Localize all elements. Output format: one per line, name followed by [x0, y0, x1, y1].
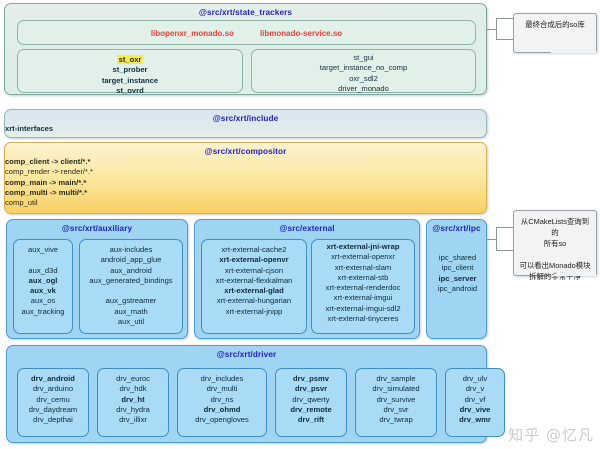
callout-leader-2 — [496, 227, 513, 251]
item-1: drv_multi — [178, 384, 266, 394]
callout-line-3: 可以看出Monado模块 — [518, 260, 592, 271]
section-title-compositor: @src/xrt/compositor — [5, 143, 486, 157]
item-1: target_instance_no_comp — [252, 63, 475, 73]
item-2: drv_ns — [178, 395, 266, 405]
callout-line-4: 拆解的非常干净 — [518, 271, 592, 282]
item-2: comp_main -> main/*.* — [5, 178, 486, 188]
item-4: drv_depthai — [18, 415, 88, 425]
item-4: comp_util — [5, 198, 486, 208]
item-6: aux_math — [80, 307, 182, 317]
section-title-ipc: @src/xrt/ipc — [427, 220, 486, 234]
callout-leader-1 — [496, 18, 513, 40]
item-2: drv_survive — [356, 395, 436, 405]
driver-col2-items: drv_eurocdrv_hdkdrv_htdrv_hydradrv_illix… — [98, 369, 168, 425]
driver-col5-items: drv_sampledrv_simulateddrv_survivedrv_sv… — [356, 369, 436, 425]
item-4: drv_illixr — [98, 415, 168, 425]
item-3: driver_monado — [252, 84, 475, 94]
driver-column-3: drv_includesdrv_multidrv_nsdrv_ohmddrv_o… — [177, 368, 267, 437]
item-1: ipc_client — [431, 263, 484, 273]
state-trackers-left-box: st_oxr st_probertarget_instancest_ovrd — [17, 49, 243, 93]
callout-2-lines: 从CMakeLists查询到的所有so 可以看出Monado模块拆解的非常干净 — [518, 216, 592, 282]
external-col2-items: xrt-external-jni-wrapxrt-external-openxr… — [312, 240, 414, 324]
item-4: xrt-external-glad — [202, 286, 306, 296]
callout-final-so-libs: 最终合成后的so库 — [513, 13, 597, 53]
diagram-canvas: @src/xrt/state_trackers libopenxr_monado… — [0, 0, 600, 449]
item-4: xrt-external-renderdoc — [312, 283, 414, 293]
item-7: aux_util — [80, 317, 182, 327]
item-0: aux_vive — [14, 245, 72, 255]
st-right-items: st_guitarget_instance_no_compoxr_sdl2dri… — [252, 53, 475, 94]
callout-cmakelists-note: 从CMakeLists查询到的所有so 可以看出Monado模块拆解的非常干净 — [513, 210, 597, 276]
item-4: drv_rift — [276, 415, 346, 425]
section-title-auxiliary: @src/xrt/auxiliary — [7, 220, 187, 234]
item-1: drv_simulated — [356, 384, 436, 394]
item-2: oxr_sdl2 — [252, 74, 475, 84]
item-3: xrt-external-flexkalman — [202, 276, 306, 286]
item-0: drv_ulv — [446, 374, 504, 384]
item-0: xrt-external-jni-wrap — [312, 242, 414, 252]
item-3: ipc_android — [431, 284, 484, 294]
item-2: drv_vf — [446, 395, 504, 405]
item-2: drv_ht — [98, 395, 168, 405]
item-0: xrt-external-cache2 — [202, 245, 306, 255]
driver-column-2: drv_eurocdrv_hdkdrv_htdrv_hydradrv_illix… — [97, 368, 169, 437]
callout-1-lines: 最终合成后的so库 — [518, 19, 592, 30]
external-col1-items: xrt-external-cache2xrt-external-openvrxr… — [202, 240, 306, 317]
section-title-include: @src/xrt/include — [5, 110, 486, 124]
item-4: aux_vk — [14, 286, 72, 296]
item-1: xrt-external-openvr — [202, 255, 306, 265]
item-2: xrt-external-cjson — [202, 266, 306, 276]
callout-line-2 — [518, 249, 592, 260]
section-state-trackers: @src/xrt/state_trackers libopenxr_monado… — [4, 3, 487, 95]
section-external: @src/external xrt-external-cache2xrt-ext… — [194, 219, 420, 339]
item-0: ipc_shared — [431, 253, 484, 263]
callout-line-0: 最终合成后的so库 — [518, 19, 592, 30]
item-0: st_prober — [18, 65, 242, 75]
section-driver: @src/xrt/driver drv_androiddrv_arduinodr… — [6, 345, 487, 443]
item-0: drv_includes — [178, 374, 266, 384]
driver-col6-items: drv_ulvdrv_vdrv_vfdrv_vivedrv_wmr — [446, 369, 504, 425]
driver-col1-items: drv_androiddrv_arduinodrv_cemudrv_daydre… — [18, 369, 88, 425]
st-oxr-highlighted: st_oxr — [18, 55, 242, 65]
callout-tick-2 — [487, 239, 497, 240]
state-trackers-so-libs: libopenxr_monado.solibmonado-service.so — [17, 20, 476, 45]
item-1: drv_arduino — [18, 384, 88, 394]
driver-col4-items: drv_psmvdrv_psvrdrv_qwertydrv_remotedrv_… — [276, 369, 346, 425]
compositor-items: comp_client -> client/*.*comp_render -> … — [5, 157, 486, 208]
driver-column-1: drv_androiddrv_arduinodrv_cemudrv_daydre… — [17, 368, 89, 437]
external-column-1: xrt-external-cache2xrt-external-openvrxr… — [201, 239, 307, 334]
item-3: drv_daydream — [18, 405, 88, 415]
item-4: drv_opengloves — [178, 415, 266, 425]
item-3: drv_remote — [276, 405, 346, 415]
item-3: comp_multi -> multi/*.* — [5, 188, 486, 198]
so-lib-list: libopenxr_monado.solibmonado-service.so — [18, 21, 475, 46]
section-auxiliary: @src/xrt/auxiliary aux_vive aux_d3daux_o… — [6, 219, 188, 339]
item-1: drv_hdk — [98, 384, 168, 394]
auxiliary-col2-items: aux-includesandroid_app_glueaux_androida… — [80, 240, 182, 327]
item-5: xrt-external-imgui — [312, 293, 414, 303]
item-5: aux_os — [14, 296, 72, 306]
item-2: drv_cemu — [18, 395, 88, 405]
item-2: ipc_server — [431, 274, 484, 284]
item-2: drv_qwerty — [276, 395, 346, 405]
item-1: target_instance — [18, 76, 242, 86]
item-1: drv_v — [446, 384, 504, 394]
item-3: xrt-external-stb — [312, 273, 414, 283]
driver-column-4: drv_psmvdrv_psvrdrv_qwertydrv_remotedrv_… — [275, 368, 347, 437]
item-4: drv_wmr — [446, 415, 504, 425]
st-left-items: st_probertarget_instancest_ovrd — [18, 65, 242, 96]
item-1: xrt-external-openxr — [312, 252, 414, 262]
item-7: xrt-external-tinyceres — [312, 314, 414, 324]
section-ipc: @src/xrt/ipc ipc_sharedipc_clientipc_ser… — [426, 219, 487, 339]
item-6: xrt-external-imgui-sdl2 — [312, 304, 414, 314]
ipc-items-box: ipc_sharedipc_clientipc_serveripc_androi… — [431, 239, 484, 334]
so-lib-1: libmonado-service.so — [260, 21, 342, 46]
auxiliary-column-2: aux-includesandroid_app_glueaux_androida… — [79, 239, 183, 334]
item-0: drv_android — [18, 374, 88, 384]
item-3: aux_generated_bindings — [80, 276, 182, 286]
driver-col3-items: drv_includesdrv_multidrv_nsdrv_ohmddrv_o… — [178, 369, 266, 425]
section-title-external: @src/external — [195, 220, 419, 234]
item-0: comp_client -> client/*.* — [5, 157, 486, 167]
item-2: aux_android — [80, 266, 182, 276]
item-4: drv_twrap — [356, 415, 436, 425]
item-1: drv_psvr — [276, 384, 346, 394]
state-trackers-right-box: st_guitarget_instance_no_compoxr_sdl2dri… — [251, 49, 476, 93]
external-column-2: xrt-external-jni-wrapxrt-external-openxr… — [311, 239, 415, 334]
item-2: aux_d3d — [14, 266, 72, 276]
item-2: xrt-external-slam — [312, 263, 414, 273]
item-0: aux-includes — [80, 245, 182, 255]
section-compositor: @src/xrt/compositor comp_client -> clien… — [4, 142, 487, 214]
callout-line-1: 所有so — [518, 238, 592, 249]
item-3: drv_hydra — [98, 405, 168, 415]
include-items: xrt-interfaces — [5, 124, 486, 134]
item-1: comp_render -> render/*.* — [5, 167, 486, 177]
ipc-items: ipc_sharedipc_clientipc_serveripc_androi… — [431, 239, 484, 294]
driver-column-6: drv_ulvdrv_vdrv_vfdrv_vivedrv_wmr — [445, 368, 505, 437]
item-2: st_ovrd — [18, 86, 242, 96]
driver-column-5: drv_sampledrv_simulateddrv_survivedrv_sv… — [355, 368, 437, 437]
item-3: drv_svr — [356, 405, 436, 415]
callout-tick-1 — [487, 29, 497, 30]
item-0: xrt-interfaces — [5, 124, 486, 134]
auxiliary-column-1: aux_vive aux_d3daux_oglaux_vkaux_osaux_t… — [13, 239, 73, 334]
auxiliary-col1-items: aux_vive aux_d3daux_oglaux_vkaux_osaux_t… — [14, 240, 72, 317]
item-0: drv_psmv — [276, 374, 346, 384]
item-1: android_app_glue — [80, 255, 182, 265]
item-3: drv_vive — [446, 405, 504, 415]
item-3: aux_ogl — [14, 276, 72, 286]
section-title-driver: @src/xrt/driver — [7, 346, 486, 360]
watermark: 知乎 @忆凡 — [508, 424, 594, 445]
item-6: aux_tracking — [14, 307, 72, 317]
item-0: st_gui — [252, 53, 475, 63]
section-include: @src/xrt/include xrt-interfaces — [4, 109, 487, 138]
item-6: xrt-external-jnipp — [202, 307, 306, 317]
item-5: xrt-external-hungarian — [202, 296, 306, 306]
so-lib-0: libopenxr_monado.so — [151, 21, 234, 46]
item-5: aux_gstreamer — [80, 296, 182, 306]
item-3: drv_ohmd — [178, 405, 266, 415]
section-title-state-trackers: @src/xrt/state_trackers — [5, 4, 486, 18]
callout-line-0: 从CMakeLists查询到的 — [518, 216, 592, 238]
item-0: drv_euroc — [98, 374, 168, 384]
item-0: drv_sample — [356, 374, 436, 384]
